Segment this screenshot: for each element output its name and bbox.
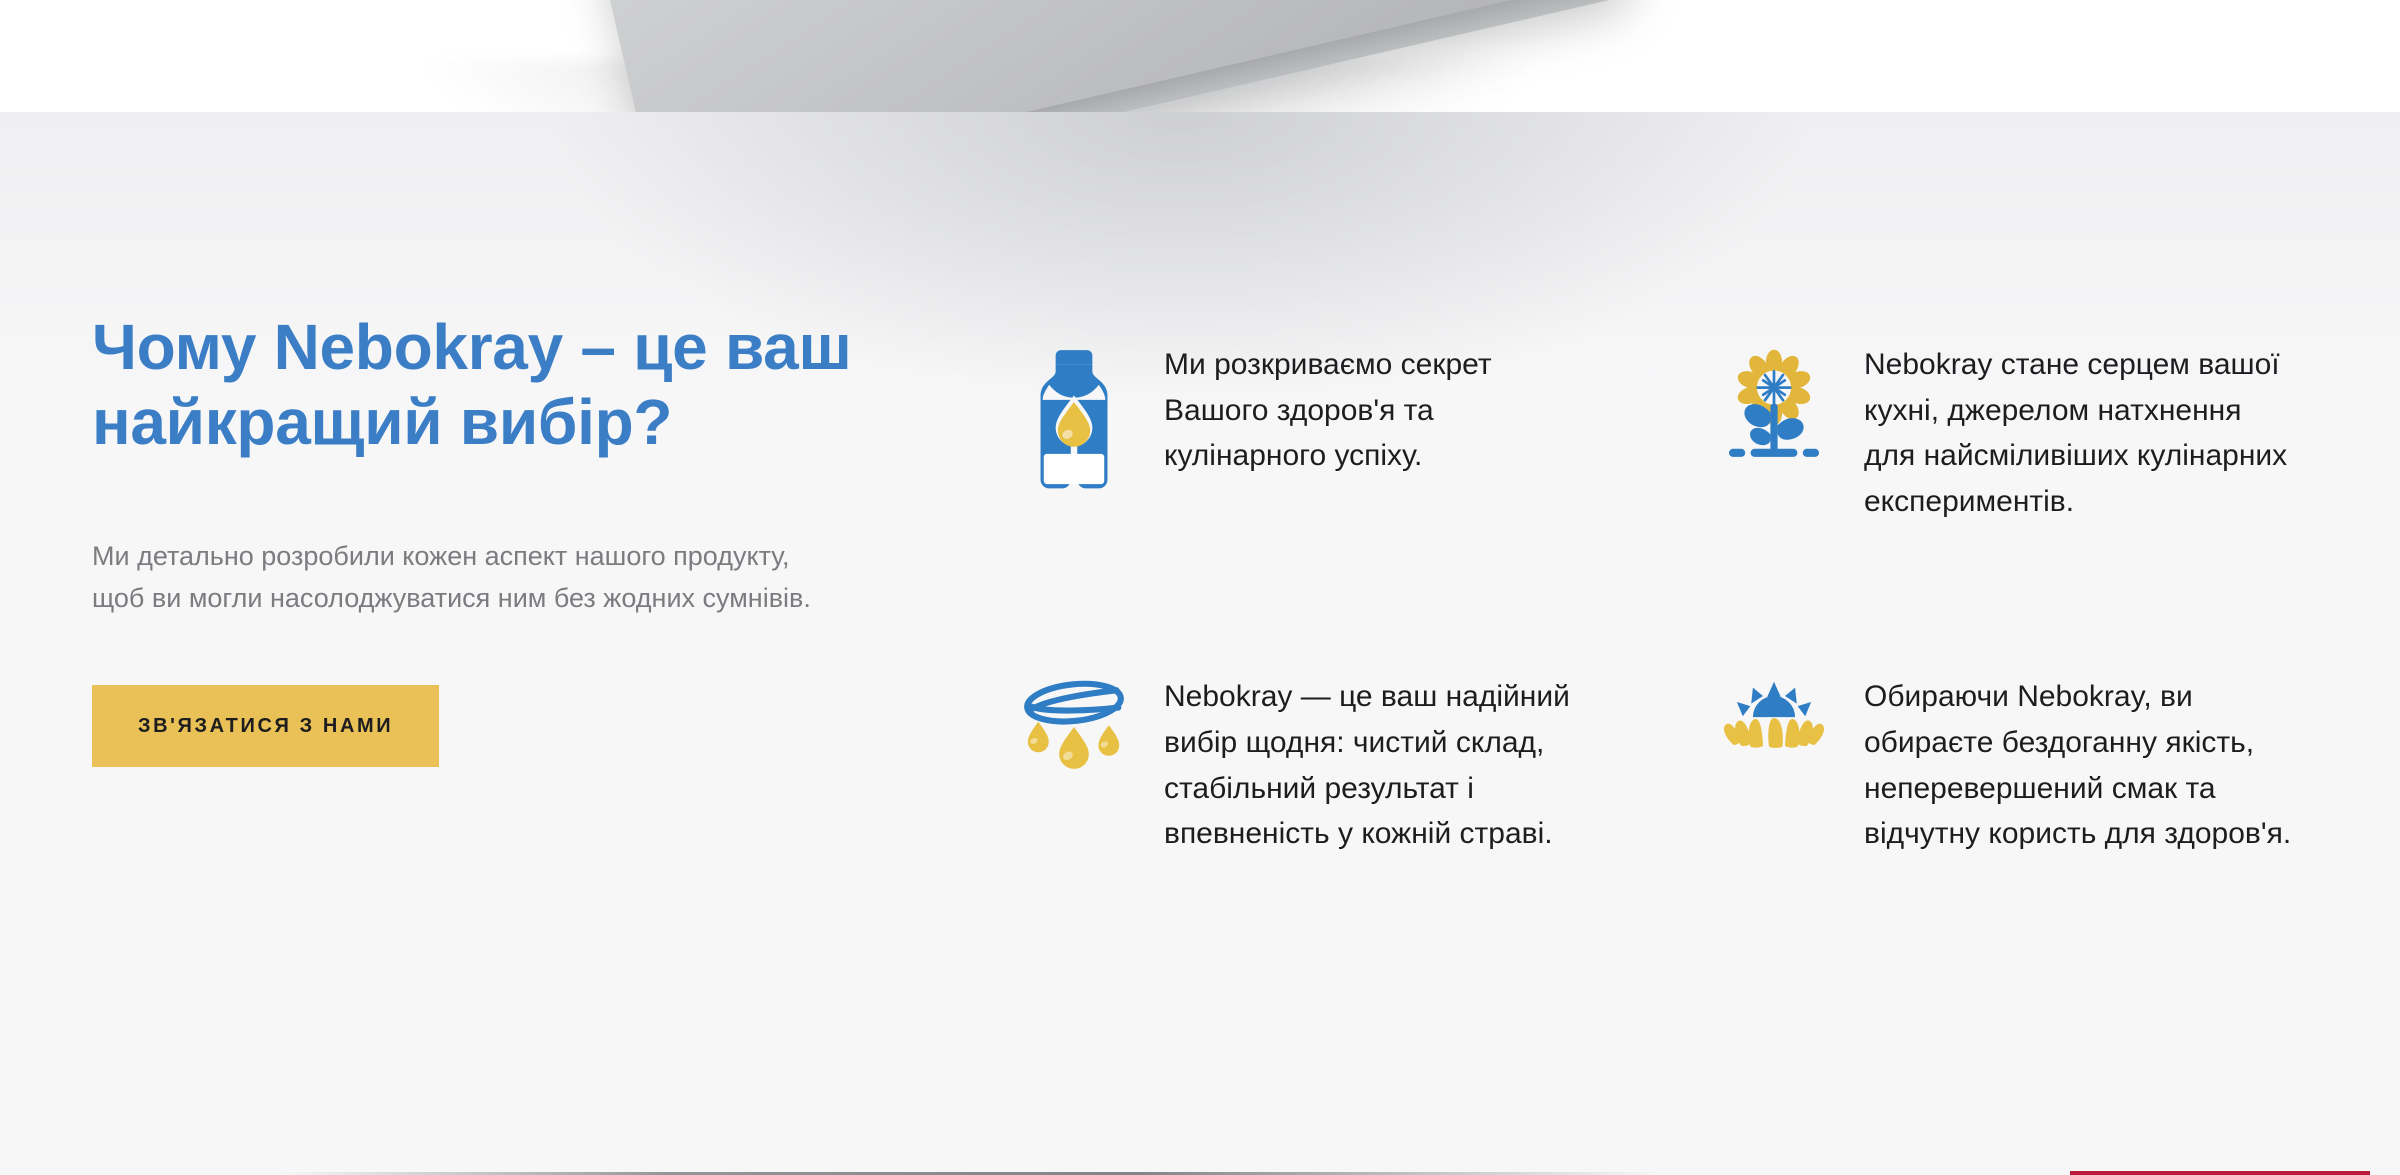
section-intro-column: Чому Nebokray – це ваш найкращий вибір? … [92, 310, 852, 767]
feature-text: Ми розкриваємо секрет Вашого здоров'я та… [1164, 342, 1594, 479]
contact-us-button[interactable]: ЗВ'ЯЗАТИСЯ З НАМИ [92, 685, 439, 767]
feature-item: Обираючи Nebokray, ви обираєте бездоганн… [1720, 674, 2360, 856]
feature-text: Nebokray — це ваш надійний вибір щодня: … [1164, 674, 1594, 856]
next-section-peek [0, 1169, 2400, 1175]
sunflower-icon [1720, 342, 1828, 461]
feature-item: Nebokray — це ваш надійний вибір щодня: … [1020, 674, 1720, 856]
feature-item: Nebokray стане серцем вашої кухні, джере… [1720, 342, 2360, 524]
hero-image-strip [0, 0, 2400, 112]
next-section-red-edge [2070, 1171, 2370, 1175]
feature-text: Обираючи Nebokray, ви обираєте бездоганн… [1864, 674, 2294, 856]
page-title: Чому Nebokray – це ваш найкращий вибір? [92, 310, 852, 460]
features-grid: Ми розкриваємо секрет Вашого здоров'я та… [1020, 342, 2360, 857]
feature-item: Ми розкриваємо секрет Вашого здоров'я та… [1020, 342, 1720, 524]
sun-field-icon [1720, 674, 1828, 758]
seed-drops-icon [1020, 674, 1128, 771]
section-description: Ми детально розробили кожен аспект нашог… [92, 536, 832, 620]
feature-text: Nebokray стане серцем вашої кухні, джере… [1864, 342, 2294, 524]
why-choose-section: Чому Nebokray – це ваш найкращий вибір? … [0, 112, 2400, 1175]
oil-bottle-icon [1020, 342, 1128, 491]
